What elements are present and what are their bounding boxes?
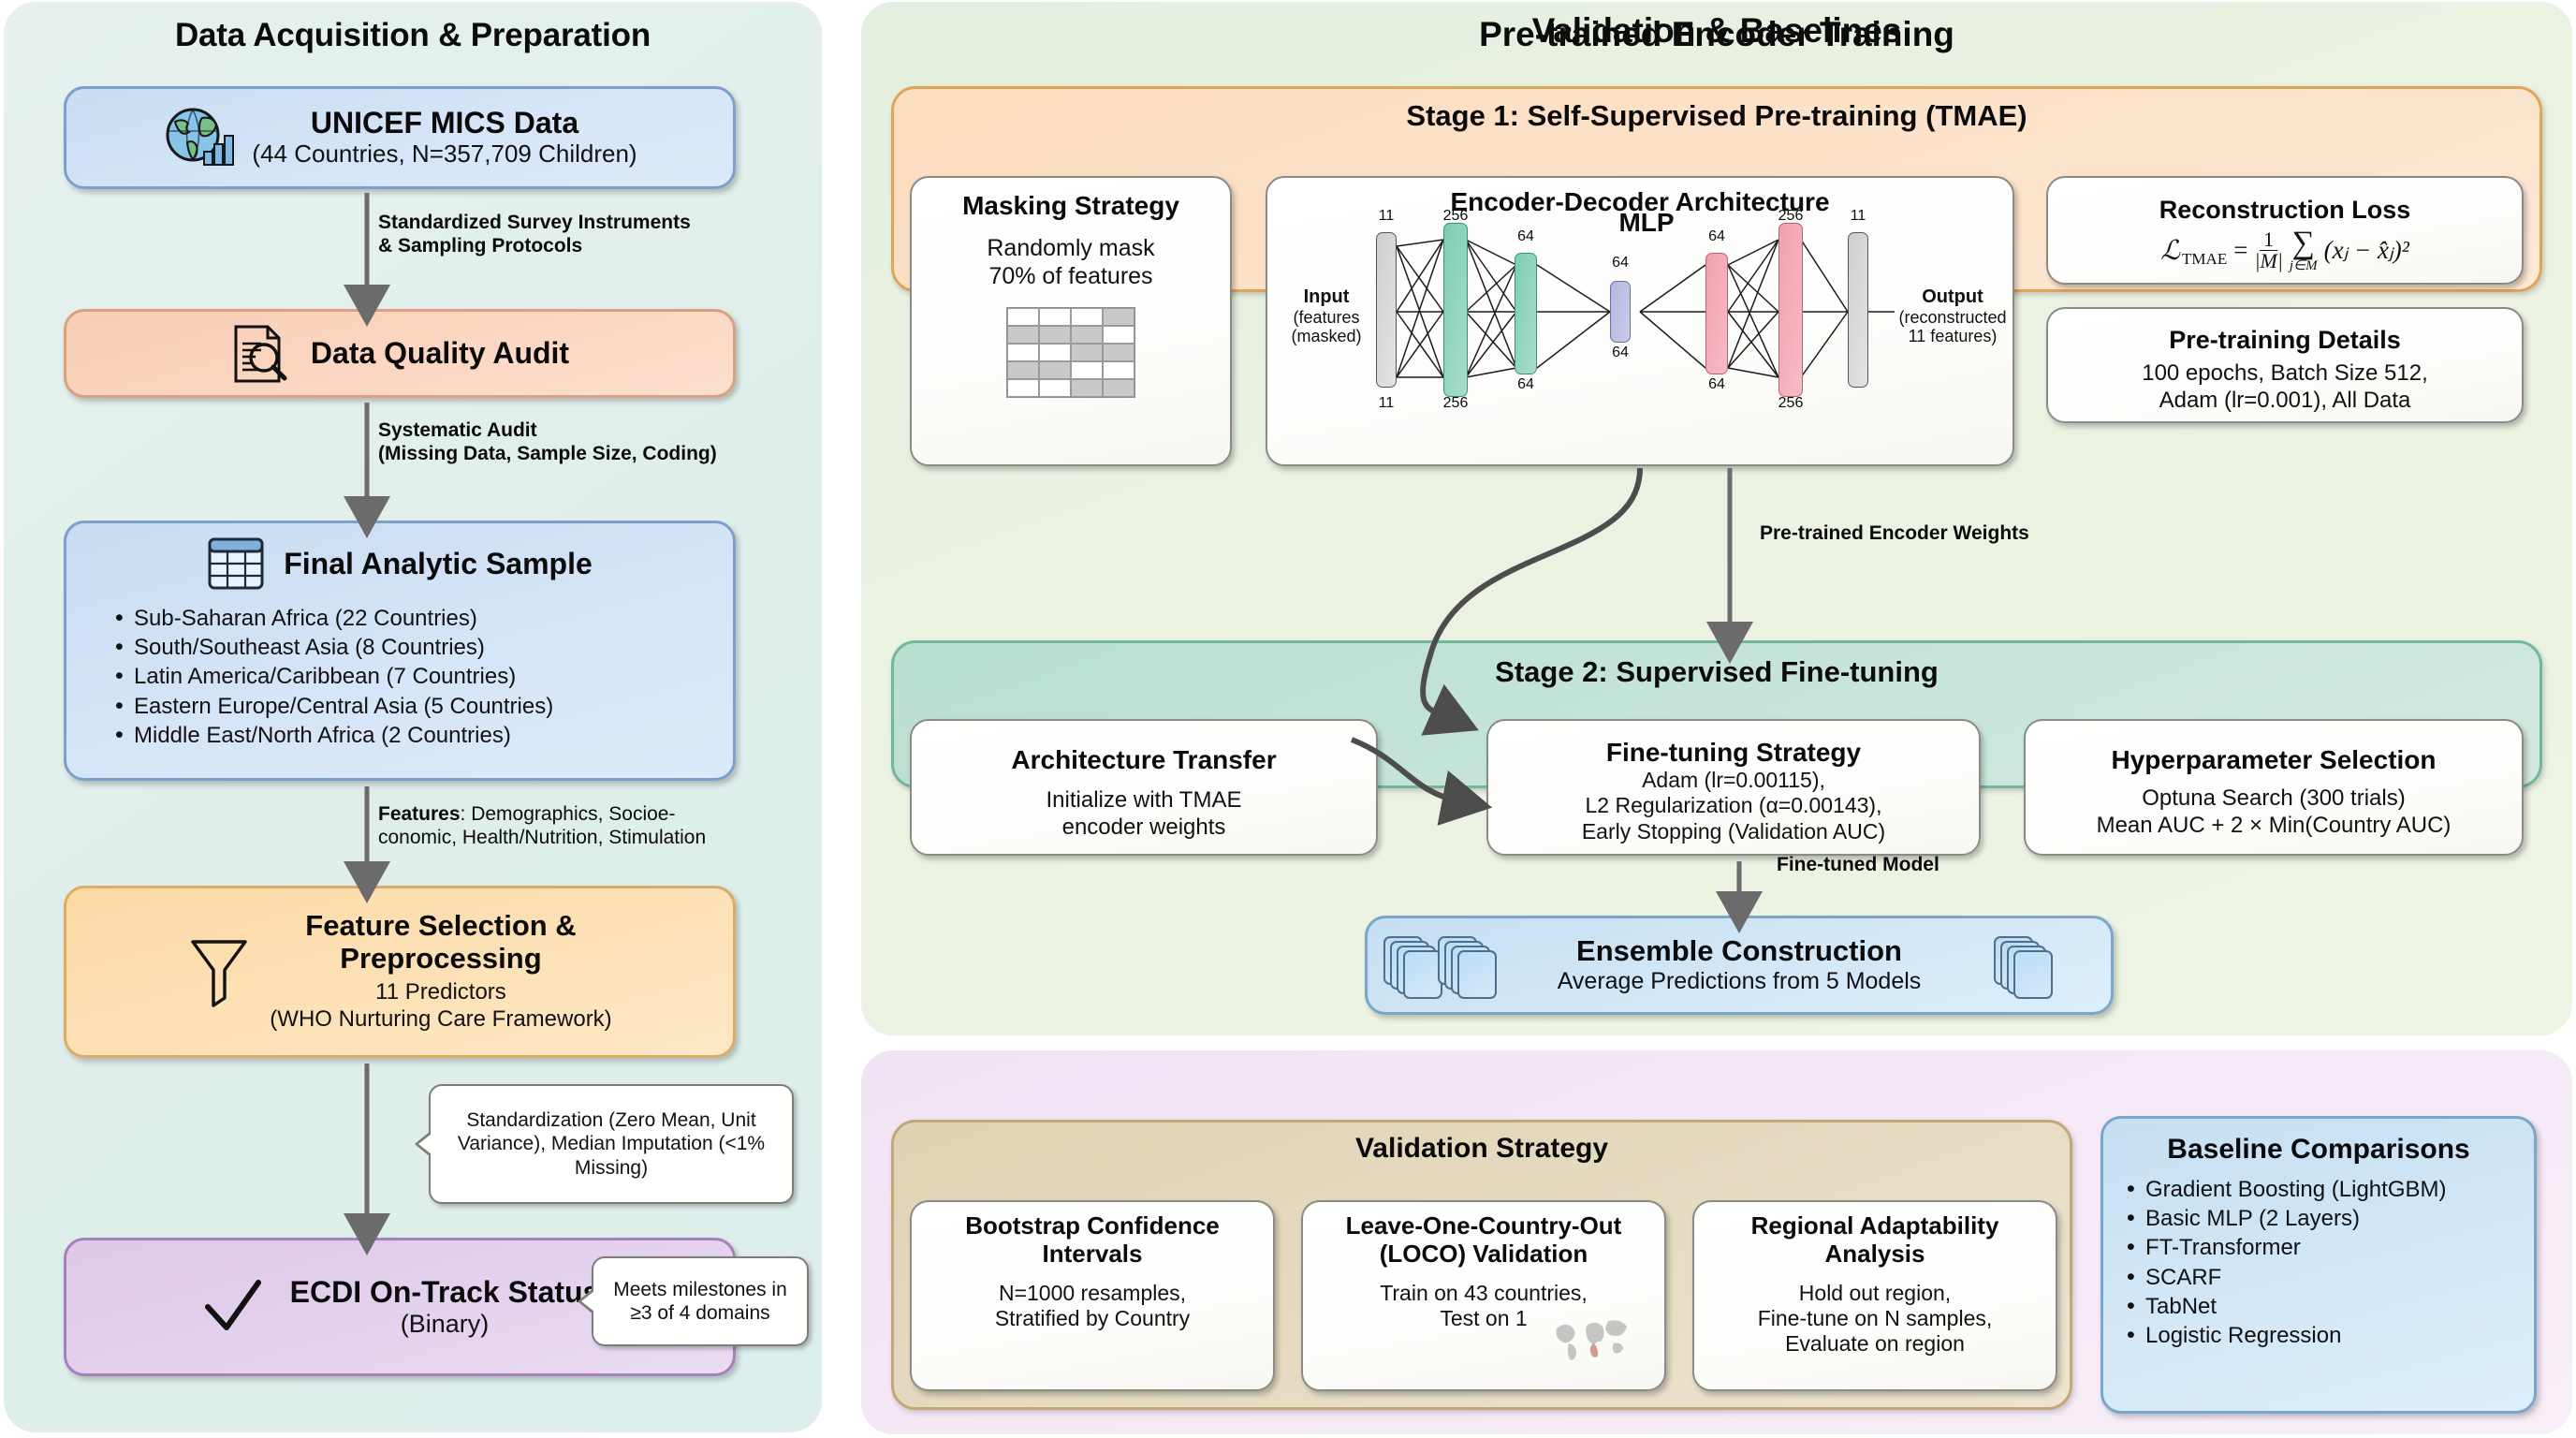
validation-card-body: Evaluate on region bbox=[1785, 1331, 1965, 1357]
layer-size-top-2: 64 bbox=[1503, 228, 1548, 245]
mlp-layer-dec-64 bbox=[1705, 253, 1728, 374]
mask-cell bbox=[1071, 361, 1103, 379]
finetune-line-2: L2 Regularization (α=0.00143), bbox=[1586, 793, 1882, 819]
mask-cell bbox=[1007, 344, 1039, 361]
layer-size-top-5: 256 bbox=[1767, 208, 1814, 225]
node-unicef-mics-data[interactable]: UNICEF MICS Data (44 Countries, N=357,70… bbox=[64, 86, 736, 189]
reconstruction-title: Reconstruction Loss bbox=[2159, 196, 2411, 225]
region-item: Eastern Europe/Central Asia (5 Countries… bbox=[110, 692, 690, 721]
mlp-layer-enc-256 bbox=[1443, 223, 1468, 397]
layer-size-bot-5: 256 bbox=[1767, 395, 1814, 412]
mask-cell bbox=[1007, 308, 1039, 326]
mask-cell bbox=[1007, 326, 1039, 344]
node-baseline-comparisons[interactable]: Baseline Comparisons Gradient Boosting (… bbox=[2100, 1116, 2537, 1414]
card-finetuning-strategy[interactable]: Fine-tuning Strategy Adam (lr=0.00115), … bbox=[1486, 719, 1981, 856]
layer-size-bot-4: 64 bbox=[1694, 376, 1739, 393]
mlp-layer-input bbox=[1376, 232, 1397, 388]
layer-size-top-0: 11 bbox=[1365, 208, 1408, 225]
region-item: South/Southeast Asia (8 Countries) bbox=[110, 633, 690, 662]
arch-transfer-title: Architecture Transfer bbox=[1011, 745, 1276, 775]
mask-cell bbox=[1007, 361, 1039, 379]
mask-cell bbox=[1103, 361, 1134, 379]
outcome-subtitle: (Binary) bbox=[290, 1310, 600, 1339]
node-data-quality-audit[interactable]: Data Quality Audit bbox=[64, 309, 736, 398]
globe-bar-chart-icon bbox=[162, 105, 235, 170]
mask-cell bbox=[1103, 326, 1134, 344]
mask-cell bbox=[1039, 308, 1071, 326]
validation-card-title: Analysis bbox=[1825, 1240, 1925, 1268]
baseline-item: Gradient Boosting (LightGBM) bbox=[2121, 1175, 2524, 1204]
edge-label-encoder-weights: Pre-trained Encoder Weights bbox=[1760, 522, 2153, 546]
card-hyperparameter-selection[interactable]: Hyperparameter Selection Optuna Search (… bbox=[2024, 719, 2524, 856]
ensemble-title: Ensemble Construction bbox=[1558, 935, 1922, 968]
masking-grid bbox=[1006, 307, 1135, 398]
sample-title: Final Analytic Sample bbox=[284, 547, 593, 581]
layer-size-bot-3: 64 bbox=[1599, 345, 1642, 361]
mask-cell bbox=[1039, 326, 1071, 344]
card-reconstruction-loss[interactable]: Reconstruction Loss ℒ TMAE = 1 |M| ∑ j∈M… bbox=[2046, 176, 2524, 285]
masking-body-1: Randomly mask bbox=[987, 234, 1154, 262]
validation-card-title: Leave-One-Country-Out bbox=[1346, 1211, 1622, 1240]
mask-cell bbox=[1007, 379, 1039, 397]
layer-size-top-4: 64 bbox=[1694, 228, 1739, 245]
page-title-validation: Validation & Baselines bbox=[861, 11, 2572, 51]
mask-cell bbox=[1039, 379, 1071, 397]
mask-cell bbox=[1071, 308, 1103, 326]
model-cards-stack-icon-left bbox=[1383, 936, 1505, 998]
region-item: Middle East/North Africa (2 Countries) bbox=[110, 721, 690, 750]
validation-card-title: Bootstrap Confidence bbox=[965, 1211, 1220, 1240]
unicef-title: UNICEF MICS Data bbox=[252, 107, 637, 140]
table-icon bbox=[207, 536, 265, 591]
ensemble-subtitle: Average Predictions from 5 Models bbox=[1558, 968, 1922, 995]
region-list: Sub-Saharan Africa (22 Countries)South/S… bbox=[110, 604, 690, 750]
band-title-validation-strategy: Validation Strategy bbox=[891, 1133, 2072, 1165]
card-pretraining-details[interactable]: Pre-training Details 100 epochs, Batch S… bbox=[2046, 307, 2524, 423]
mask-cell bbox=[1103, 344, 1134, 361]
world-map-icon bbox=[1552, 1315, 1632, 1367]
edge-label-standardized-survey: Standardized Survey Instruments & Sampli… bbox=[378, 212, 818, 258]
card-validation-1[interactable]: Leave-One-Country-Out(LOCO) ValidationTr… bbox=[1301, 1200, 1666, 1391]
features-sub-1: 11 Predictors bbox=[270, 979, 611, 1006]
mask-cell bbox=[1071, 344, 1103, 361]
validation-card-title: (LOCO) Validation bbox=[1380, 1240, 1588, 1268]
finetune-line-1: Adam (lr=0.00115), bbox=[1642, 768, 1825, 794]
funnel-icon bbox=[187, 934, 251, 1009]
mlp-layer-output bbox=[1848, 232, 1868, 388]
edge-label-features: Features: Demographics, Socioe- conomic,… bbox=[378, 803, 832, 850]
finetune-line-3: Early Stopping (Validation AUC) bbox=[1582, 819, 1885, 845]
mask-cell bbox=[1103, 308, 1134, 326]
checkmark-icon bbox=[200, 1275, 266, 1339]
validation-card-title: Regional Adaptability bbox=[1751, 1211, 1999, 1240]
band-title-stage1: Stage 1: Self-Supervised Pre-training (T… bbox=[891, 99, 2542, 133]
masking-body-2: 70% of features bbox=[988, 262, 1152, 290]
features-title-1: Feature Selection & bbox=[270, 910, 611, 943]
baselines-title: Baseline Comparisons bbox=[2167, 1134, 2469, 1166]
layer-size-bot-1: 256 bbox=[1432, 395, 1479, 412]
features-sub-2: (WHO Nurturing Care Framework) bbox=[270, 1006, 611, 1034]
baseline-item: FT-Transformer bbox=[2121, 1233, 2524, 1262]
layer-size-bot-0: 11 bbox=[1365, 395, 1408, 412]
layer-size-top-6: 11 bbox=[1837, 208, 1880, 225]
card-masking-strategy[interactable]: Masking Strategy Randomly mask 70% of fe… bbox=[910, 176, 1232, 466]
document-magnifier-icon bbox=[230, 323, 290, 385]
reconstruction-formula: ℒ TMAE = 1 |M| ∑ j∈M (xⱼ − x̂ⱼ)² bbox=[2160, 228, 2409, 272]
outcome-title: ECDI On-Track Status bbox=[290, 1275, 600, 1309]
arch-transfer-line-2: encoder weights bbox=[1062, 814, 1226, 841]
unicef-subtitle: (44 Countries, N=357,709 Children) bbox=[252, 140, 637, 169]
callout-standardization: Standardization (Zero Mean, Unit Varianc… bbox=[429, 1084, 794, 1204]
validation-card-body: Hold out region, bbox=[1799, 1281, 1951, 1306]
model-cards-stack-icon-right bbox=[1994, 936, 2069, 998]
validation-card-body: Fine-tune on N samples, bbox=[1758, 1306, 1993, 1331]
mlp-layer-latent-64 bbox=[1610, 281, 1631, 343]
edge-label-finetuned-model: Fine-tuned Model bbox=[1777, 854, 2086, 877]
mask-cell bbox=[1103, 379, 1134, 397]
pretraining-title: Pre-training Details bbox=[2169, 326, 2401, 355]
card-architecture-transfer[interactable]: Architecture Transfer Initialize with TM… bbox=[910, 719, 1378, 856]
baseline-item: TabNet bbox=[2121, 1292, 2524, 1321]
baseline-item: Basic MLP (2 Layers) bbox=[2121, 1204, 2524, 1233]
baseline-item: SCARF bbox=[2121, 1263, 2524, 1292]
features-title-2: Preprocessing bbox=[270, 943, 611, 976]
pretraining-line-1: 100 epochs, Batch Size 512, bbox=[2142, 360, 2428, 388]
mask-cell bbox=[1039, 361, 1071, 379]
hyperparam-line-1: Optuna Search (300 trials) bbox=[2142, 785, 2405, 812]
region-item: Latin America/Caribbean (7 Countries) bbox=[110, 662, 690, 691]
node-feature-selection-preprocessing[interactable]: Feature Selection & Preprocessing 11 Pre… bbox=[64, 886, 736, 1058]
card-validation-2[interactable]: Regional AdaptabilityAnalysisHold out re… bbox=[1692, 1200, 2057, 1391]
masking-title: Masking Strategy bbox=[962, 191, 1179, 221]
mlp-layer-dec-256 bbox=[1778, 223, 1803, 397]
baseline-item: Logistic Regression bbox=[2121, 1321, 2524, 1350]
edge-label-systematic-audit: Systematic Audit (Missing Data, Sample S… bbox=[378, 419, 827, 466]
node-final-analytic-sample[interactable]: Final Analytic Sample Sub-Saharan Africa… bbox=[64, 521, 736, 781]
mask-cell bbox=[1071, 326, 1103, 344]
mask-cell bbox=[1039, 344, 1071, 361]
finetune-title: Fine-tuning Strategy bbox=[1606, 738, 1861, 768]
region-item: Sub-Saharan Africa (22 Countries) bbox=[110, 604, 690, 633]
arch-transfer-line-1: Initialize with TMAE bbox=[1046, 786, 1242, 814]
mask-cell bbox=[1071, 379, 1103, 397]
hyperparam-title: Hyperparameter Selection bbox=[2111, 745, 2436, 775]
layer-size-top-3: 64 bbox=[1599, 255, 1642, 271]
validation-card-body: Test on 1 bbox=[1440, 1306, 1527, 1331]
mlp-layer-enc-64 bbox=[1515, 253, 1537, 374]
callout-milestones: Meets milestones in ≥3 of 4 domains bbox=[592, 1256, 809, 1346]
band-title-stage2: Stage 2: Supervised Fine-tuning bbox=[891, 655, 2542, 689]
page-title-data-acquisition: Data Acquisition & Preparation bbox=[4, 17, 822, 54]
mlp-diagram: MLP Input (features (masked) Output (rec… bbox=[1266, 176, 2014, 466]
validation-card-body: Train on 43 countries, bbox=[1380, 1281, 1588, 1306]
baseline-list: Gradient Boosting (LightGBM)Basic MLP (2… bbox=[2114, 1175, 2524, 1350]
validation-card-body: N=1000 resamples, bbox=[999, 1281, 1186, 1306]
validation-card-title: Intervals bbox=[1043, 1240, 1143, 1268]
hyperparam-line-2: Mean AUC + 2 × Min(Country AUC) bbox=[2097, 812, 2452, 839]
layer-size-top-1: 256 bbox=[1432, 208, 1479, 225]
layer-size-bot-2: 64 bbox=[1503, 376, 1548, 393]
audit-title: Data Quality Audit bbox=[311, 336, 569, 371]
card-validation-0[interactable]: Bootstrap ConfidenceIntervalsN=1000 resa… bbox=[910, 1200, 1275, 1391]
pretraining-line-2: Adam (lr=0.001), All Data bbox=[2159, 388, 2411, 415]
validation-card-body: Stratified by Country bbox=[995, 1306, 1190, 1331]
